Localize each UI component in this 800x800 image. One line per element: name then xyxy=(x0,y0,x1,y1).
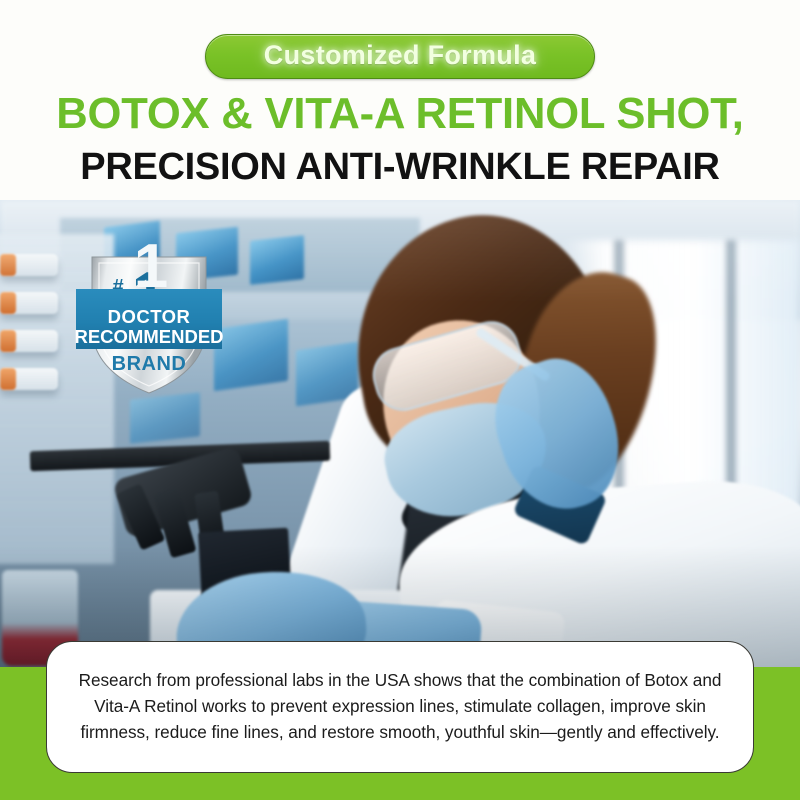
svg-text:1: 1 xyxy=(134,243,168,301)
header-section: Customized Formula BOTOX & VITA-A RETINO… xyxy=(0,0,800,200)
svg-text:RECOMMENDED: RECOMMENDED xyxy=(74,326,223,347)
caption-card: Research from professional labs in the U… xyxy=(46,641,754,773)
customized-formula-badge: Customized Formula xyxy=(205,34,595,79)
caption-text: Research from professional labs in the U… xyxy=(69,667,731,745)
customized-formula-pill-wrapper: Customized Formula xyxy=(0,34,800,79)
doctor-recommended-badge: 1 # 1 DOCTOR RECOMMENDED BRAND #1 DOCTOR… xyxy=(72,243,226,395)
product-marketing-banner: Customized Formula BOTOX & VITA-A RETINO… xyxy=(0,0,800,800)
svg-text:BRAND: BRAND xyxy=(112,353,187,375)
page-title: BOTOX & VITA-A RETINOL SHOT, xyxy=(4,92,796,136)
page-subtitle: PRECISION ANTI-WRINKLE REPAIR xyxy=(0,148,800,186)
svg-text:DOCTOR: DOCTOR xyxy=(108,306,191,327)
